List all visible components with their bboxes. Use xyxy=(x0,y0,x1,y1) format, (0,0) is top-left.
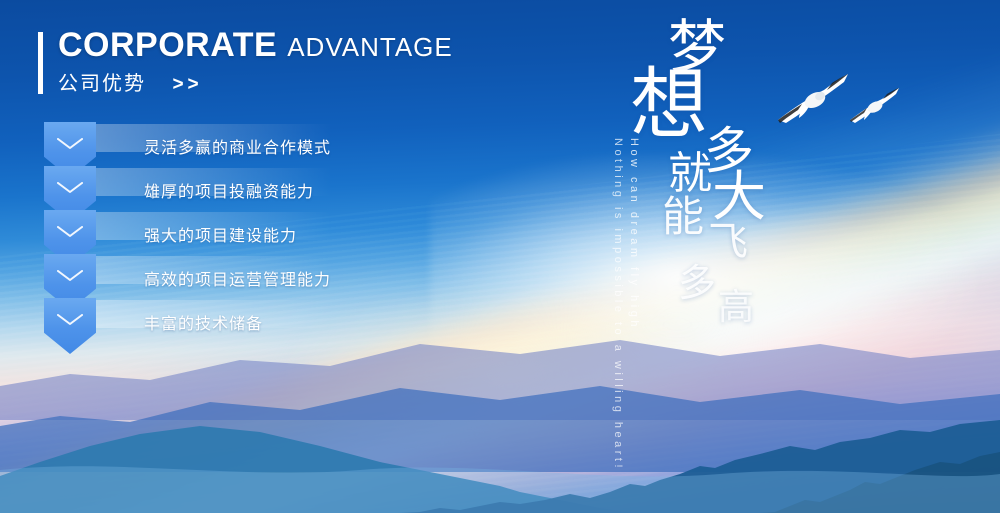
slogan-char-8: 多 xyxy=(678,264,716,302)
list-item[interactable]: 强大的项目建设能力 xyxy=(44,212,374,256)
list-item-label: 雄厚的项目投融资能力 xyxy=(144,178,314,202)
list-item[interactable]: 丰富的技术储备 xyxy=(44,300,374,344)
header-title-line: CORPORATEADVANTAGE xyxy=(58,28,453,62)
chevron-glyph xyxy=(57,182,83,194)
corporate-advantage-banner: CORPORATEADVANTAGE 公司优势 >> 灵活多赢的商业合作模式 xyxy=(0,0,1000,513)
banner-header: CORPORATEADVANTAGE 公司优势 >> xyxy=(38,28,453,94)
advantage-list: 灵活多赢的商业合作模式 雄厚的项目投融资能力 强大的项目建设能力 xyxy=(44,124,374,344)
slogan-char-9: 高 xyxy=(718,290,754,326)
chevron-glyph xyxy=(57,270,83,282)
accent-bar xyxy=(38,32,43,94)
bottom-mist xyxy=(0,440,1000,513)
seagull-icon xyxy=(772,70,854,128)
list-item[interactable]: 雄厚的项目投融资能力 xyxy=(44,168,374,212)
double-chevron-right-icon[interactable]: >> xyxy=(172,74,202,95)
list-item[interactable]: 灵活多赢的商业合作模式 xyxy=(44,124,374,168)
slogan-char-6: 能 xyxy=(662,196,704,238)
slogan-english-line-2: Nothing is impossible to a willing heart… xyxy=(612,138,624,471)
slogan-char-7: 飞 xyxy=(708,222,748,262)
page-subtitle-en: ADVANTAGE xyxy=(287,32,453,62)
slogan-char-4: 就 xyxy=(668,152,712,196)
slogan-char-2: 想 xyxy=(630,66,708,144)
slogan-block: 梦 想 多 就 大 能 飞 多 高 How can dream fly high… xyxy=(612,0,792,420)
page-subtitle-cn: 公司优势 xyxy=(58,73,146,95)
list-item-label: 灵活多赢的商业合作模式 xyxy=(144,134,331,158)
list-item-label: 高效的项目运营管理能力 xyxy=(144,266,331,290)
list-item-label: 丰富的技术储备 xyxy=(144,310,263,334)
chevron-glyph xyxy=(57,226,83,238)
slogan-english-line-1: How can dream fly high xyxy=(628,138,640,330)
header-subtitle-line: 公司优势 >> xyxy=(58,74,453,94)
chevron-glyph xyxy=(57,138,83,150)
list-item[interactable]: 高效的项目运营管理能力 xyxy=(44,256,374,300)
seagull-icon xyxy=(846,86,902,126)
list-item-label: 强大的项目建设能力 xyxy=(144,222,297,246)
slogan-char-5: 大 xyxy=(712,170,766,224)
chevron-glyph xyxy=(57,314,83,326)
page-title: CORPORATE xyxy=(58,26,277,64)
